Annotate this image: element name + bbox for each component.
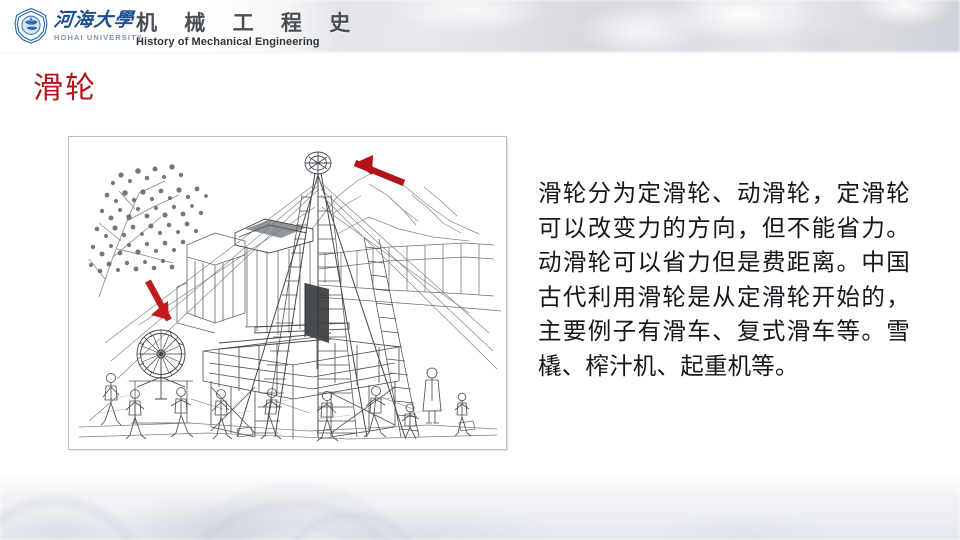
logo-english-name: HOHAI UNIVERSITY [54,33,143,42]
logo-chinese-name: 河海大學 [53,5,136,32]
slide-title: 滑轮 [33,72,97,107]
body-paragraph: 滑轮分为定滑轮、动滑轮，定滑轮可以改变力的方向，但不能省力。动滑轮可以省力但是费… [538,176,910,383]
footer-watermark-ring-small [270,512,434,540]
masthead: 河海大學 HOHAI UNIVERSITY 机 械 工 程 史 History … [0,0,960,52]
derrick-line-drawing [69,137,506,449]
course-title-chinese: 机 械 工 程 史 [136,7,360,37]
footer-watermark-ring-large [160,500,428,540]
hohai-university-emblem-icon [12,7,50,45]
course-title-english: History of Mechanical Engineering [136,36,320,48]
footer-machinery-watermark [0,472,960,540]
university-logo: 河海大學 HOHAI UNIVERSITY [12,4,134,48]
slide-canvas: 河海大學 HOHAI UNIVERSITY 机 械 工 程 史 History … [0,0,960,540]
figure-ancient-derrick [68,136,507,450]
footer-watermark-arc [0,496,150,540]
